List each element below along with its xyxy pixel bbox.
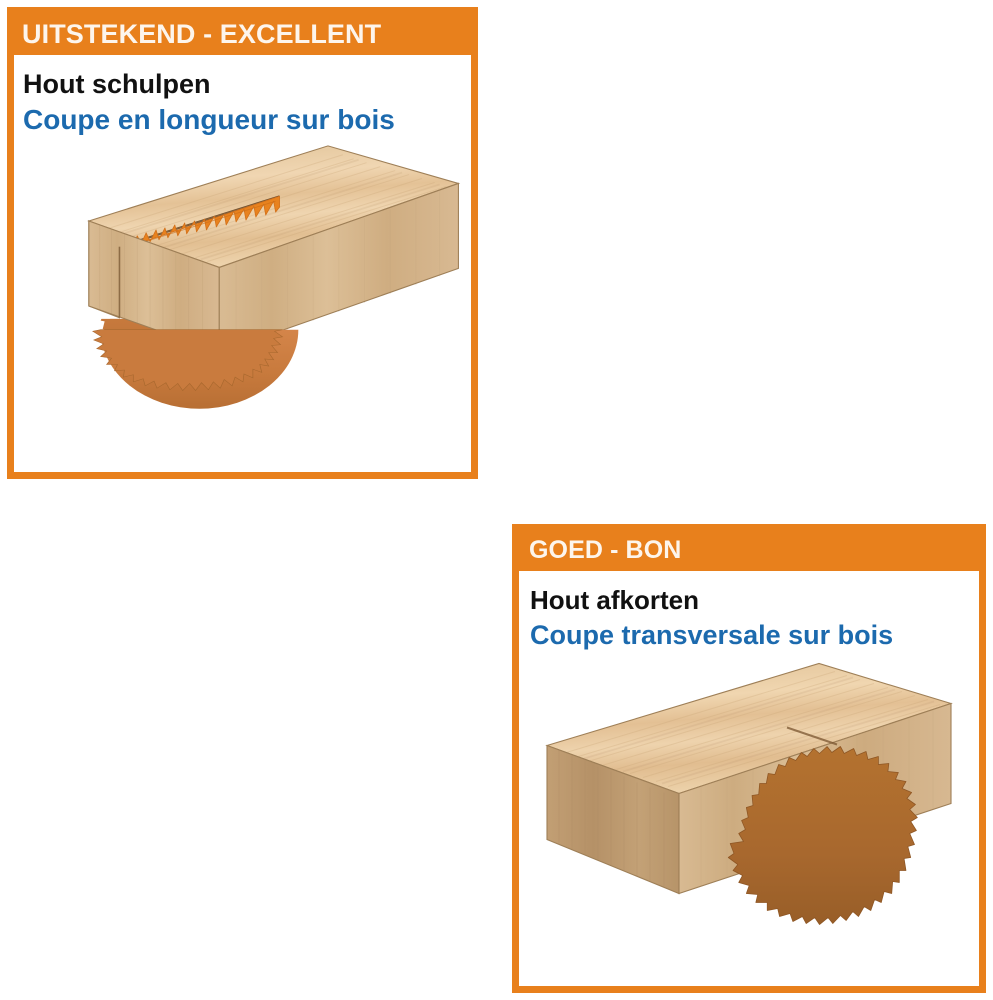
panel-rip-title-nl: Hout schulpen bbox=[14, 55, 471, 100]
cross-board-left-end-face bbox=[547, 746, 679, 894]
rip-kerf-line bbox=[119, 196, 279, 246]
panel-cross-title-fr: Coupe transversale sur bois bbox=[519, 616, 979, 651]
cross-kerf-line bbox=[787, 728, 837, 745]
panel-cross-illustration-area bbox=[519, 651, 979, 986]
cross-blade-upper bbox=[734, 676, 915, 875]
rip-board-top-face bbox=[89, 146, 459, 268]
panel-cross-body: Hout afkorten Coupe transversale sur boi… bbox=[519, 571, 979, 651]
rip-blade-lower-teeth bbox=[100, 227, 285, 387]
cross-board-top-face bbox=[547, 664, 951, 794]
rip-board-front-face bbox=[89, 221, 219, 352]
panel-rip-title-fr: Coupe en longueur sur bois bbox=[14, 100, 471, 136]
cross-board-front-face bbox=[679, 704, 951, 894]
panel-rip-rating-badge: UITSTEKEND - EXCELLENT bbox=[13, 13, 472, 55]
panel-rip-body: Hout schulpen Coupe en longueur sur bois bbox=[14, 55, 471, 136]
rip-blade-lower-front bbox=[93, 330, 299, 409]
cross-cut-illustration bbox=[519, 651, 979, 986]
panel-cross-cut: GOED - BON Hout afkorten Coupe transvers… bbox=[512, 524, 986, 993]
panel-rip-illustration-area bbox=[14, 136, 471, 472]
panel-rip-cut: UITSTEKEND - EXCELLENT Hout schulpen Cou… bbox=[7, 7, 478, 479]
panel-cross-rating-badge: GOED - BON bbox=[518, 530, 980, 571]
rip-cut-illustration bbox=[14, 136, 471, 472]
rip-board-right-end-face bbox=[219, 183, 458, 352]
panel-cross-title-nl: Hout afkorten bbox=[519, 571, 979, 616]
rip-blade-upper-teeth bbox=[125, 196, 279, 247]
rip-blade-lower bbox=[109, 228, 291, 377]
rip-board-left-segment bbox=[89, 221, 219, 352]
cross-blade-lower bbox=[728, 747, 917, 925]
